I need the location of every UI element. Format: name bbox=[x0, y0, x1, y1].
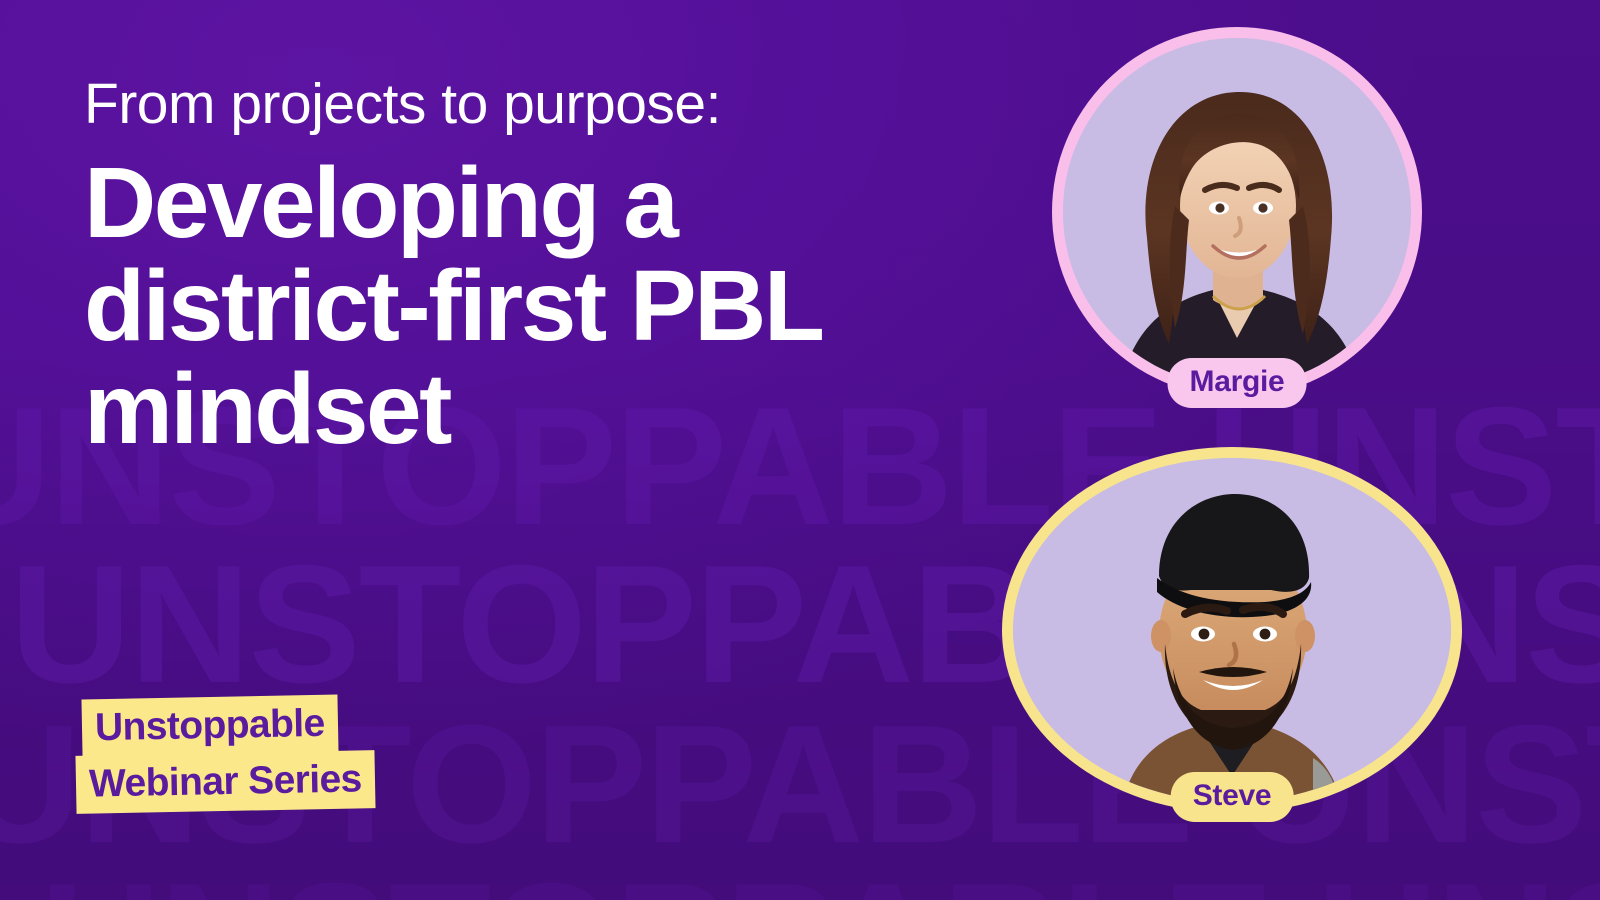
avatar-ring-yellow bbox=[1013, 458, 1451, 802]
series-badge: Unstoppable Webinar Series bbox=[82, 697, 375, 811]
headline-block: From projects to purpose: Developing a d… bbox=[84, 74, 1044, 461]
portrait-margie bbox=[1063, 38, 1411, 386]
page-title: Developing a district-first PBL mindset bbox=[84, 152, 924, 461]
series-badge-line-2: Webinar Series bbox=[75, 750, 375, 814]
watermark-row: UNSTOPPABLE UNSTOPPABLE bbox=[40, 858, 1600, 900]
webinar-promo-banner: UNSTOPPABLE UNSTOPPABLE UNSTOPPABLE UNST… bbox=[0, 0, 1600, 900]
avatar-ring-pink bbox=[1063, 38, 1411, 386]
portrait-steve bbox=[1013, 458, 1451, 802]
avatar-steve: Steve bbox=[1013, 458, 1451, 802]
speaker-name-steve: Steve bbox=[1171, 772, 1294, 823]
speaker-name-margie: Margie bbox=[1168, 358, 1307, 409]
kicker-text: From projects to purpose: bbox=[84, 74, 1044, 134]
avatar-margie: Margie bbox=[1063, 38, 1411, 386]
series-badge-line-1: Unstoppable bbox=[81, 695, 338, 758]
